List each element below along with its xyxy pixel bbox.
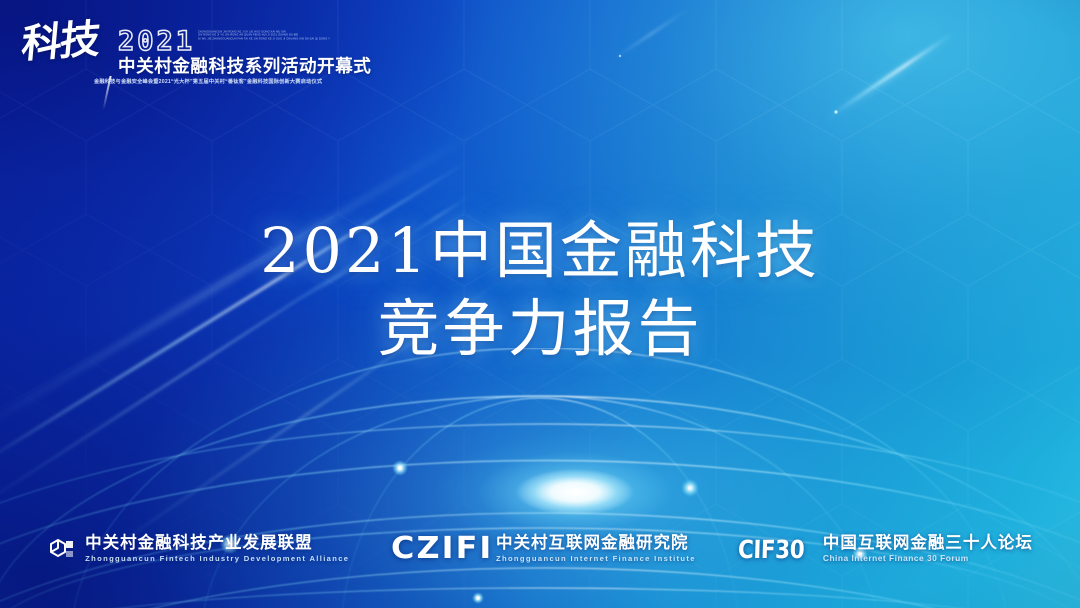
footer-logo-name-cn: 中国互联网金融三十人论坛 xyxy=(823,534,1033,553)
footer-logo-text: 中国互联网金融三十人论坛 China Internet Finance 30 F… xyxy=(823,534,1033,564)
footer-logo-name-cn: 中关村互联网金融研究院 xyxy=(496,534,696,553)
footer-logo-cif30: CIF30 中国互联网金融三十人论坛 China Internet Financ… xyxy=(738,534,1033,564)
footer-logo-zgc-fintech-alliance: 中关村金融科技产业发展联盟 Zhongguancun Fintech Indus… xyxy=(47,534,349,564)
brush-calligraphy-text: 科技 xyxy=(20,19,100,64)
event-logo-lockup: 科技 2021 ZHONGGUANCUN JIN RONG KE JI XI L… xyxy=(22,18,332,104)
czifi-wordmark: CZIFI xyxy=(391,534,493,564)
brush-calligraphy-icon: 科技 xyxy=(22,24,114,86)
poster-slide: 科技 2021 ZHONGGUANCUN JIN RONG KE JI XI L… xyxy=(0,0,1080,608)
cube-emblem-icon xyxy=(47,535,77,563)
footer-logo-name-en: Zhongguancun Fintech Industry Developmen… xyxy=(85,553,349,564)
cif30-wordmark: CIF30 xyxy=(737,537,804,562)
event-year: 2021 xyxy=(118,28,195,55)
event-pinyin-line: DI WU JIE ZHONGGUANCUN FAN TAI KE JIN RO… xyxy=(198,37,330,41)
footer-logo-text: 中关村金融科技产业发展联盟 Zhongguancun Fintech Indus… xyxy=(85,534,349,564)
event-pinyin-block: ZHONGGUANCUN JIN RONG KE JI XI LIE HUO D… xyxy=(198,30,330,40)
footer-logo-name-cn: 中关村金融科技产业发展联盟 xyxy=(85,534,349,553)
globe-network-icon xyxy=(0,348,1080,608)
event-subtitle: 金融科技与金融安全峰会暨2021“光大杯”第五届中关村“番钛客”金融科技国际创新… xyxy=(94,80,322,85)
footer-logo-text: 中关村互联网金融研究院 Zhongguancun Internet Financ… xyxy=(496,534,696,564)
footer-logo-row: 中关村金融科技产业发展联盟 Zhongguancun Fintech Indus… xyxy=(0,534,1080,564)
footer-logo-name-en: Zhongguancun Internet Finance Institute xyxy=(496,553,696,564)
event-heading: 中关村金融科技系列活动开幕式 xyxy=(118,58,371,76)
footer-logo-czifi: CZIFI 中关村互联网金融研究院 Zhongguancun Internet … xyxy=(391,534,695,564)
footer-logo-name-en: China Internet Finance 30 Forum xyxy=(823,553,1033,564)
